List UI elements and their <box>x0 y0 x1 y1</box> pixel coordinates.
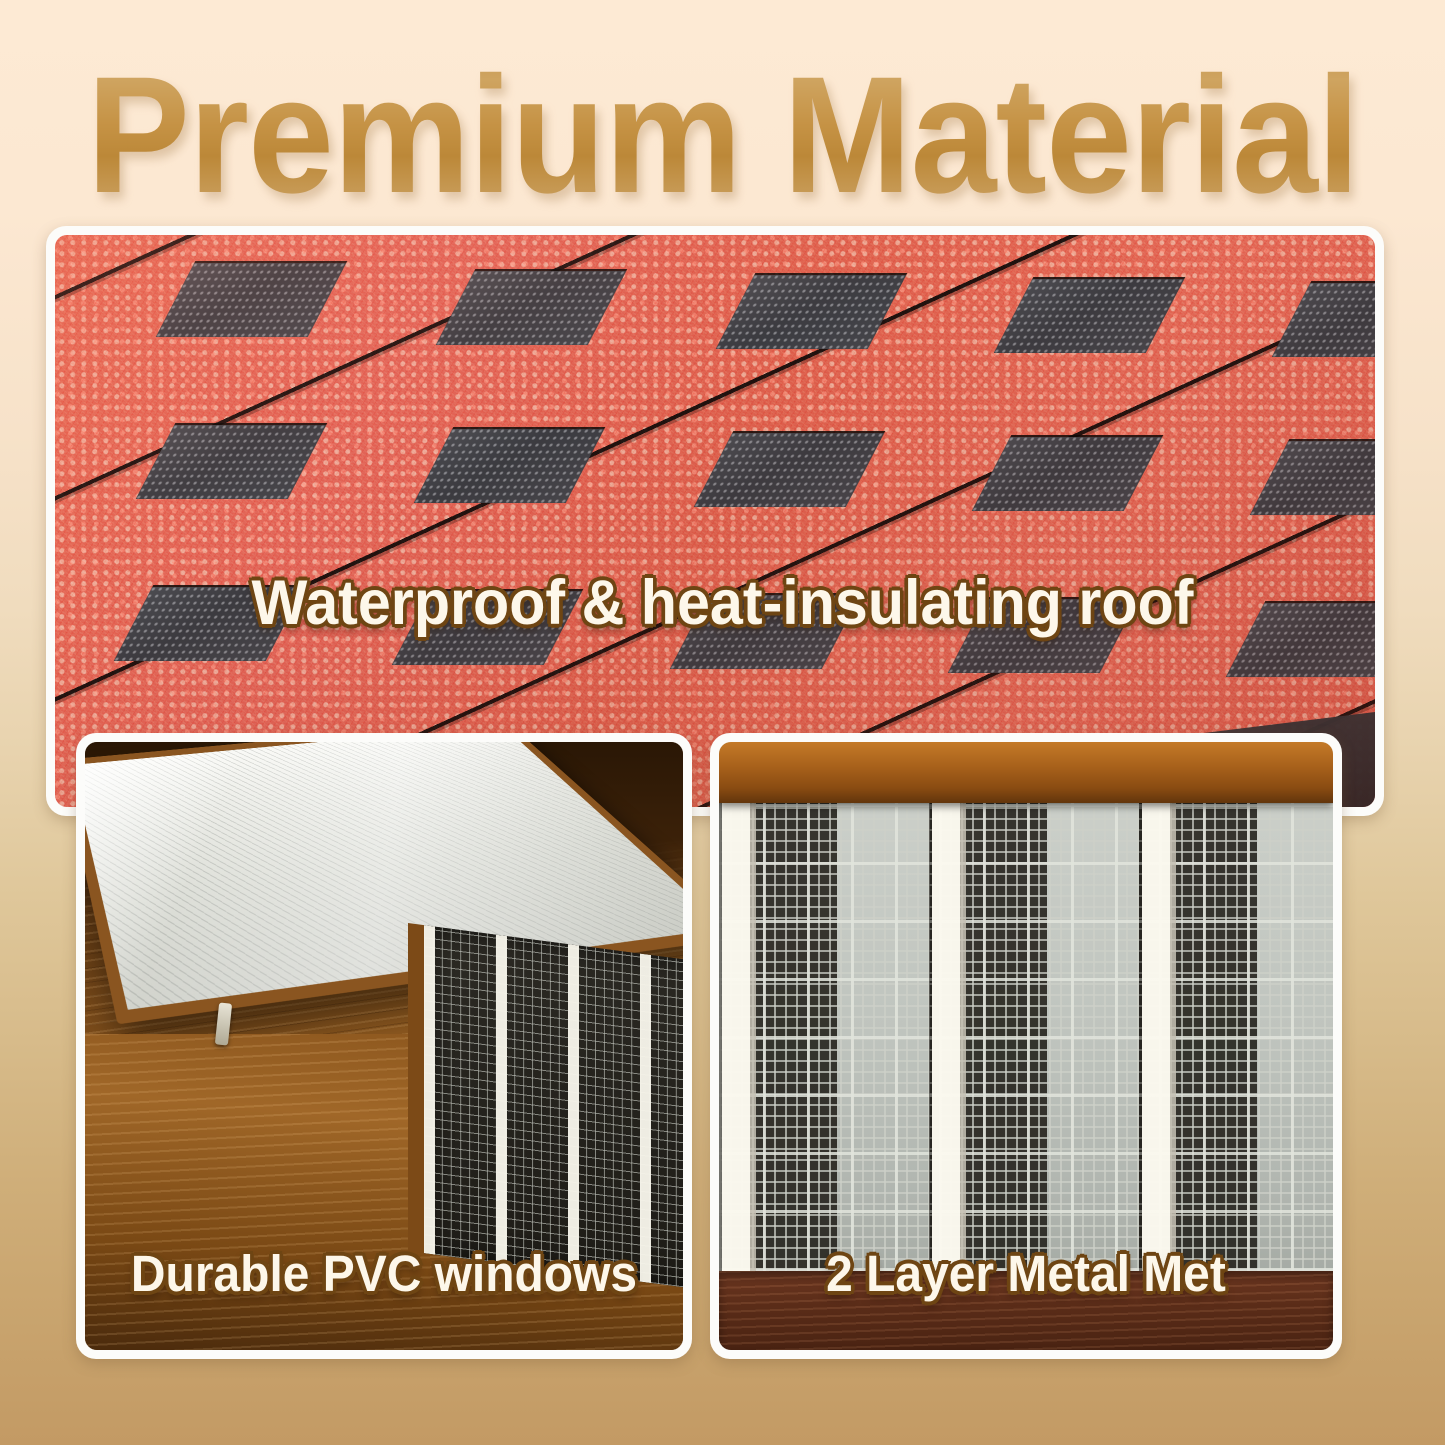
roof-photo <box>55 235 1375 807</box>
page-title: Premium Material <box>86 53 1358 219</box>
mesh-vertical-bars <box>719 803 1333 1277</box>
caption-pvc-window: Durable PVC windows <box>94 1248 673 1299</box>
page-header: Premium Material <box>0 48 1445 223</box>
caption-roof: Waterproof & heat-insulating roof <box>43 572 1401 635</box>
mesh-wooden-top-rail <box>719 742 1333 803</box>
cage-vertical-bars <box>424 925 683 1291</box>
feature-card-roof <box>46 226 1384 816</box>
roof-vignette <box>55 235 1375 807</box>
hutch-cage-opening <box>408 923 683 1291</box>
caption-metal-mesh: 2 Layer Metal Met <box>729 1248 1323 1299</box>
